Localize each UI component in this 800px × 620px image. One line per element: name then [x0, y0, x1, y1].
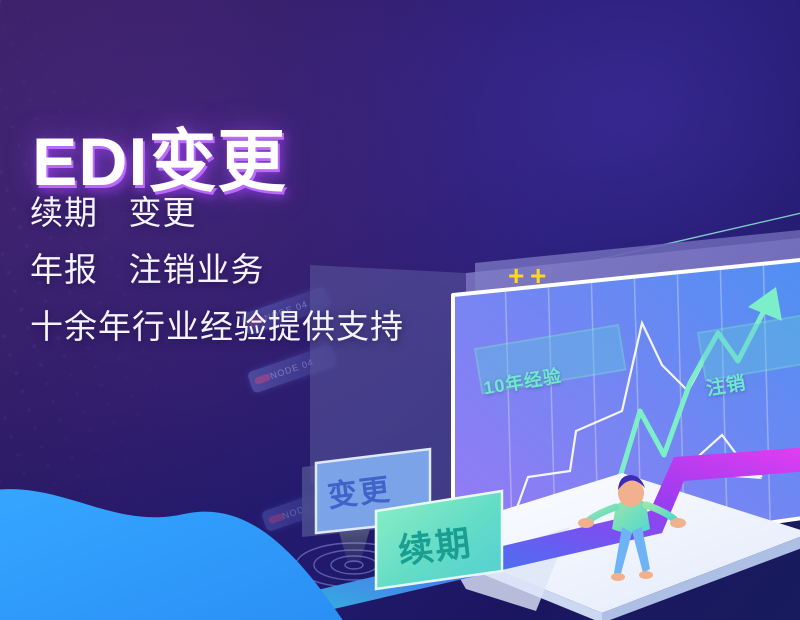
- bottom-wave-decoration: [0, 444, 344, 620]
- subtitle-line-1: 续期 变更: [30, 196, 404, 229]
- banner-root: NODE 04 NODE 04 NODE 01: [0, 0, 800, 620]
- card-label-renew: 续期: [395, 515, 475, 575]
- node-chip-accent: [254, 373, 271, 385]
- plus-icon-right: +: [530, 262, 546, 290]
- subtitle-line-3: 十余年行业经验提供支持: [30, 310, 404, 343]
- plus-icon-left: +: [508, 262, 524, 290]
- subtitle-line-2: 年报 注销业务: [30, 253, 404, 286]
- page-title: EDI变更: [32, 128, 286, 196]
- subtitle-list: 续期 变更 年报 注销业务 十余年行业经验提供支持: [30, 196, 404, 367]
